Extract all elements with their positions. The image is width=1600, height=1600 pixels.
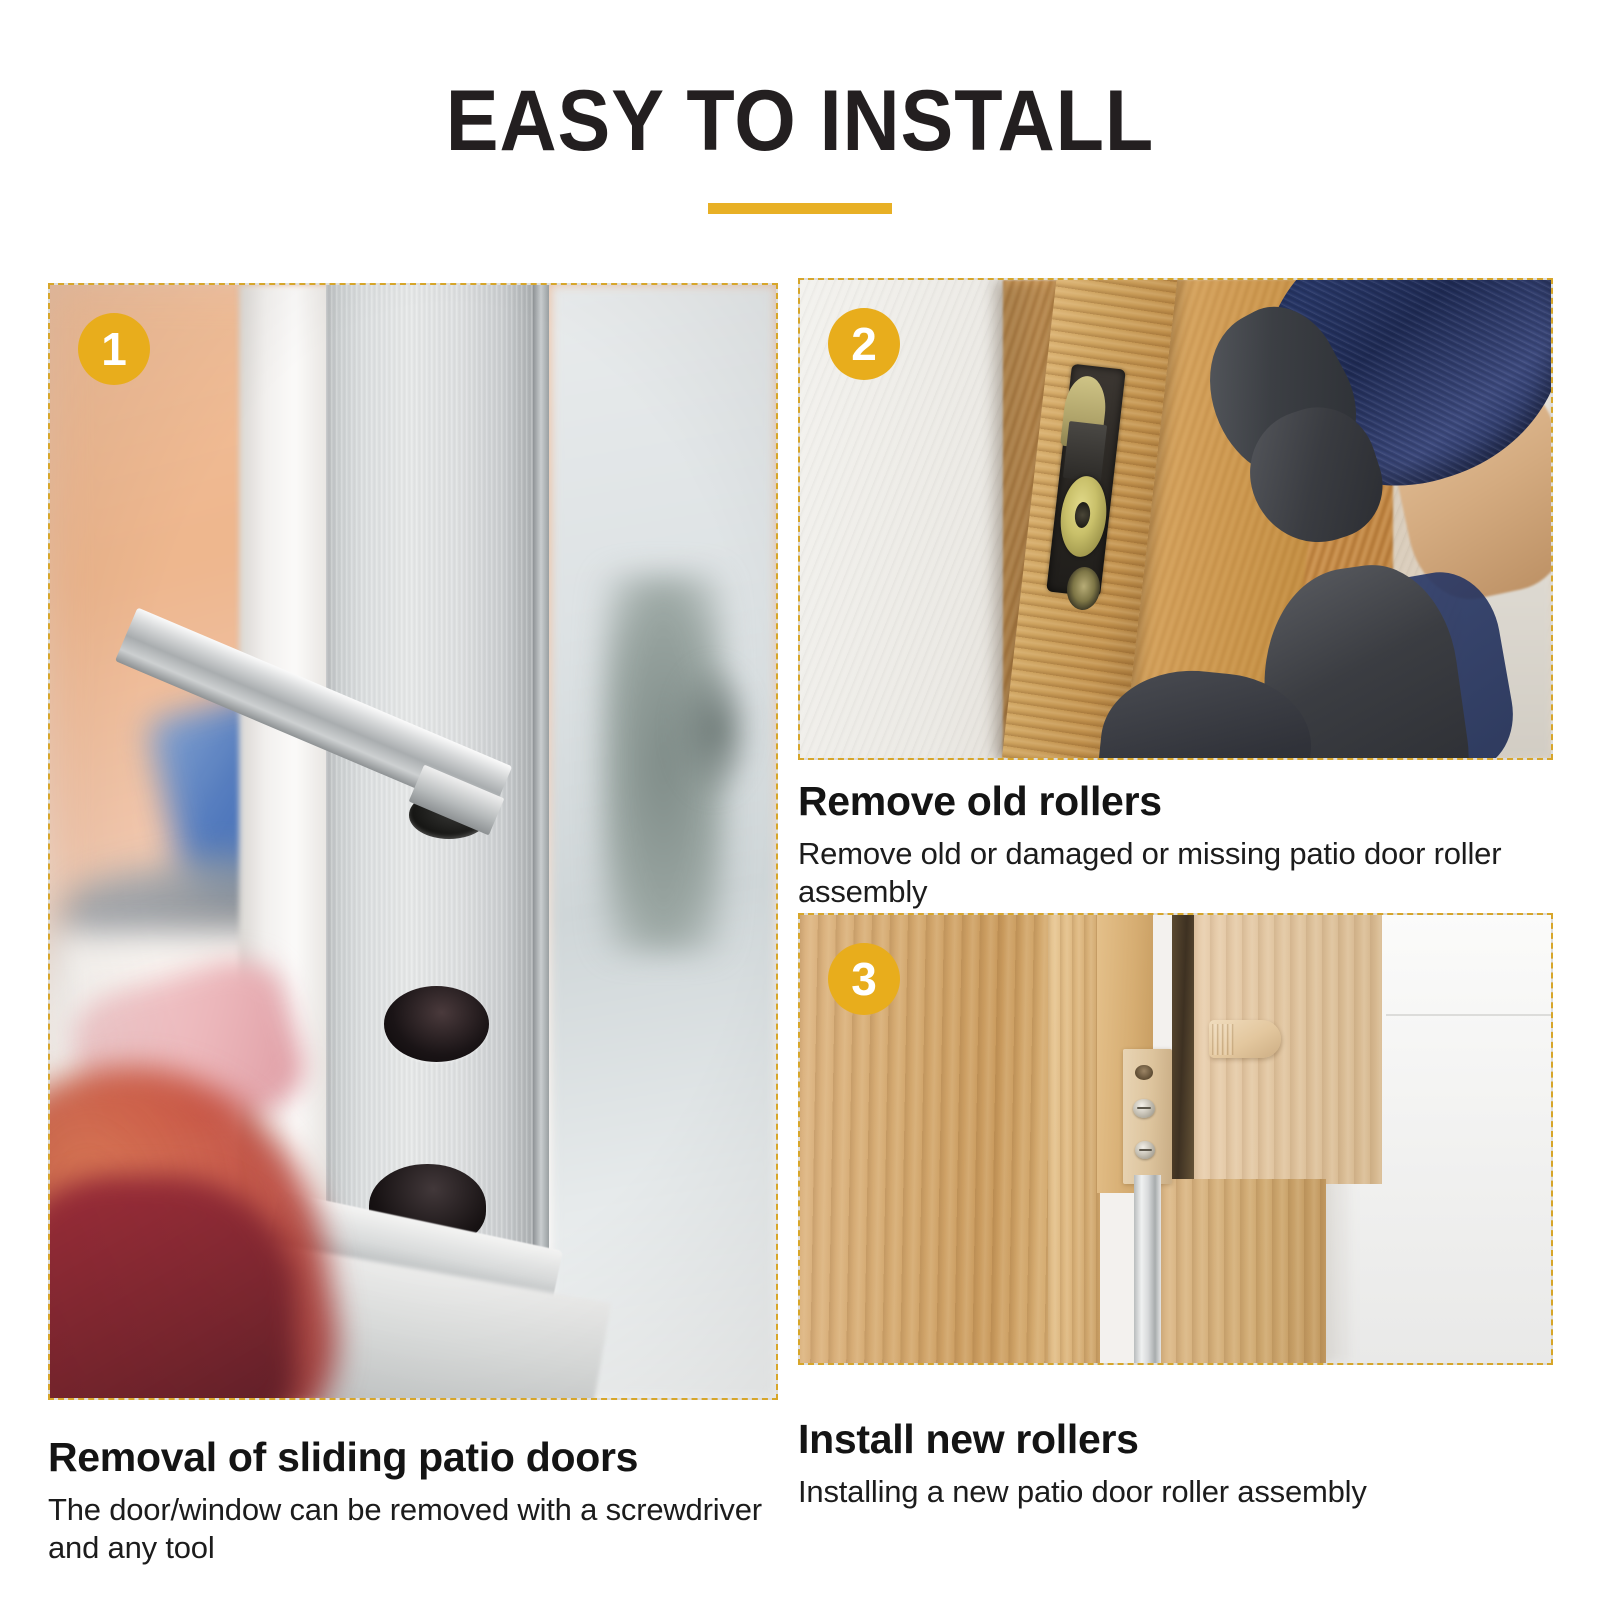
step-1-body: The door/window can be removed with a sc… xyxy=(48,1491,788,1567)
step-2-photo: 2 xyxy=(798,278,1553,760)
photo-vignette xyxy=(50,285,776,1398)
step-3-photo: 3 xyxy=(798,913,1553,1365)
step-1-photo: 1 xyxy=(48,283,778,1400)
step-2-body: Remove old or damaged or missing patio d… xyxy=(798,835,1558,911)
step-badge-1: 1 xyxy=(78,313,150,385)
step-2-heading: Remove old rollers xyxy=(798,778,1558,826)
door-gap-shadow xyxy=(1172,915,1196,1184)
door-stile-left xyxy=(1048,915,1101,1363)
floor-tile-seam xyxy=(1386,1014,1551,1016)
step-1-caption: Removal of sliding patio doors The door/… xyxy=(48,1418,788,1567)
step-card-2: 2 xyxy=(798,278,1553,760)
install-steps-infographic: EASY TO INSTALL xyxy=(0,0,1600,1600)
step-badge-2: 2 xyxy=(828,308,900,380)
step-3-heading: Install new rollers xyxy=(798,1416,1558,1464)
roller-housing-block xyxy=(1063,421,1107,482)
door-pull-handle xyxy=(1209,1020,1280,1058)
step-card-3: 3 xyxy=(798,913,1553,1365)
step-card-1: 1 xyxy=(48,283,778,1400)
steps-grid: 1 Removal of sliding patio doors The doo… xyxy=(0,0,1600,1600)
step-badge-3: 3 xyxy=(828,943,900,1015)
lower-sill-board xyxy=(1160,1179,1325,1363)
step-1-heading: Removal of sliding patio doors xyxy=(48,1434,788,1482)
metal-track-rail xyxy=(1134,1175,1161,1363)
step-2-caption: Remove old rollers Remove old or damaged… xyxy=(798,762,1558,911)
bracket-screw-upper xyxy=(1133,1099,1155,1118)
step-3-body: Installing a new patio door roller assem… xyxy=(798,1473,1558,1511)
step-3-caption: Install new rollers Installing a new pat… xyxy=(798,1400,1558,1511)
